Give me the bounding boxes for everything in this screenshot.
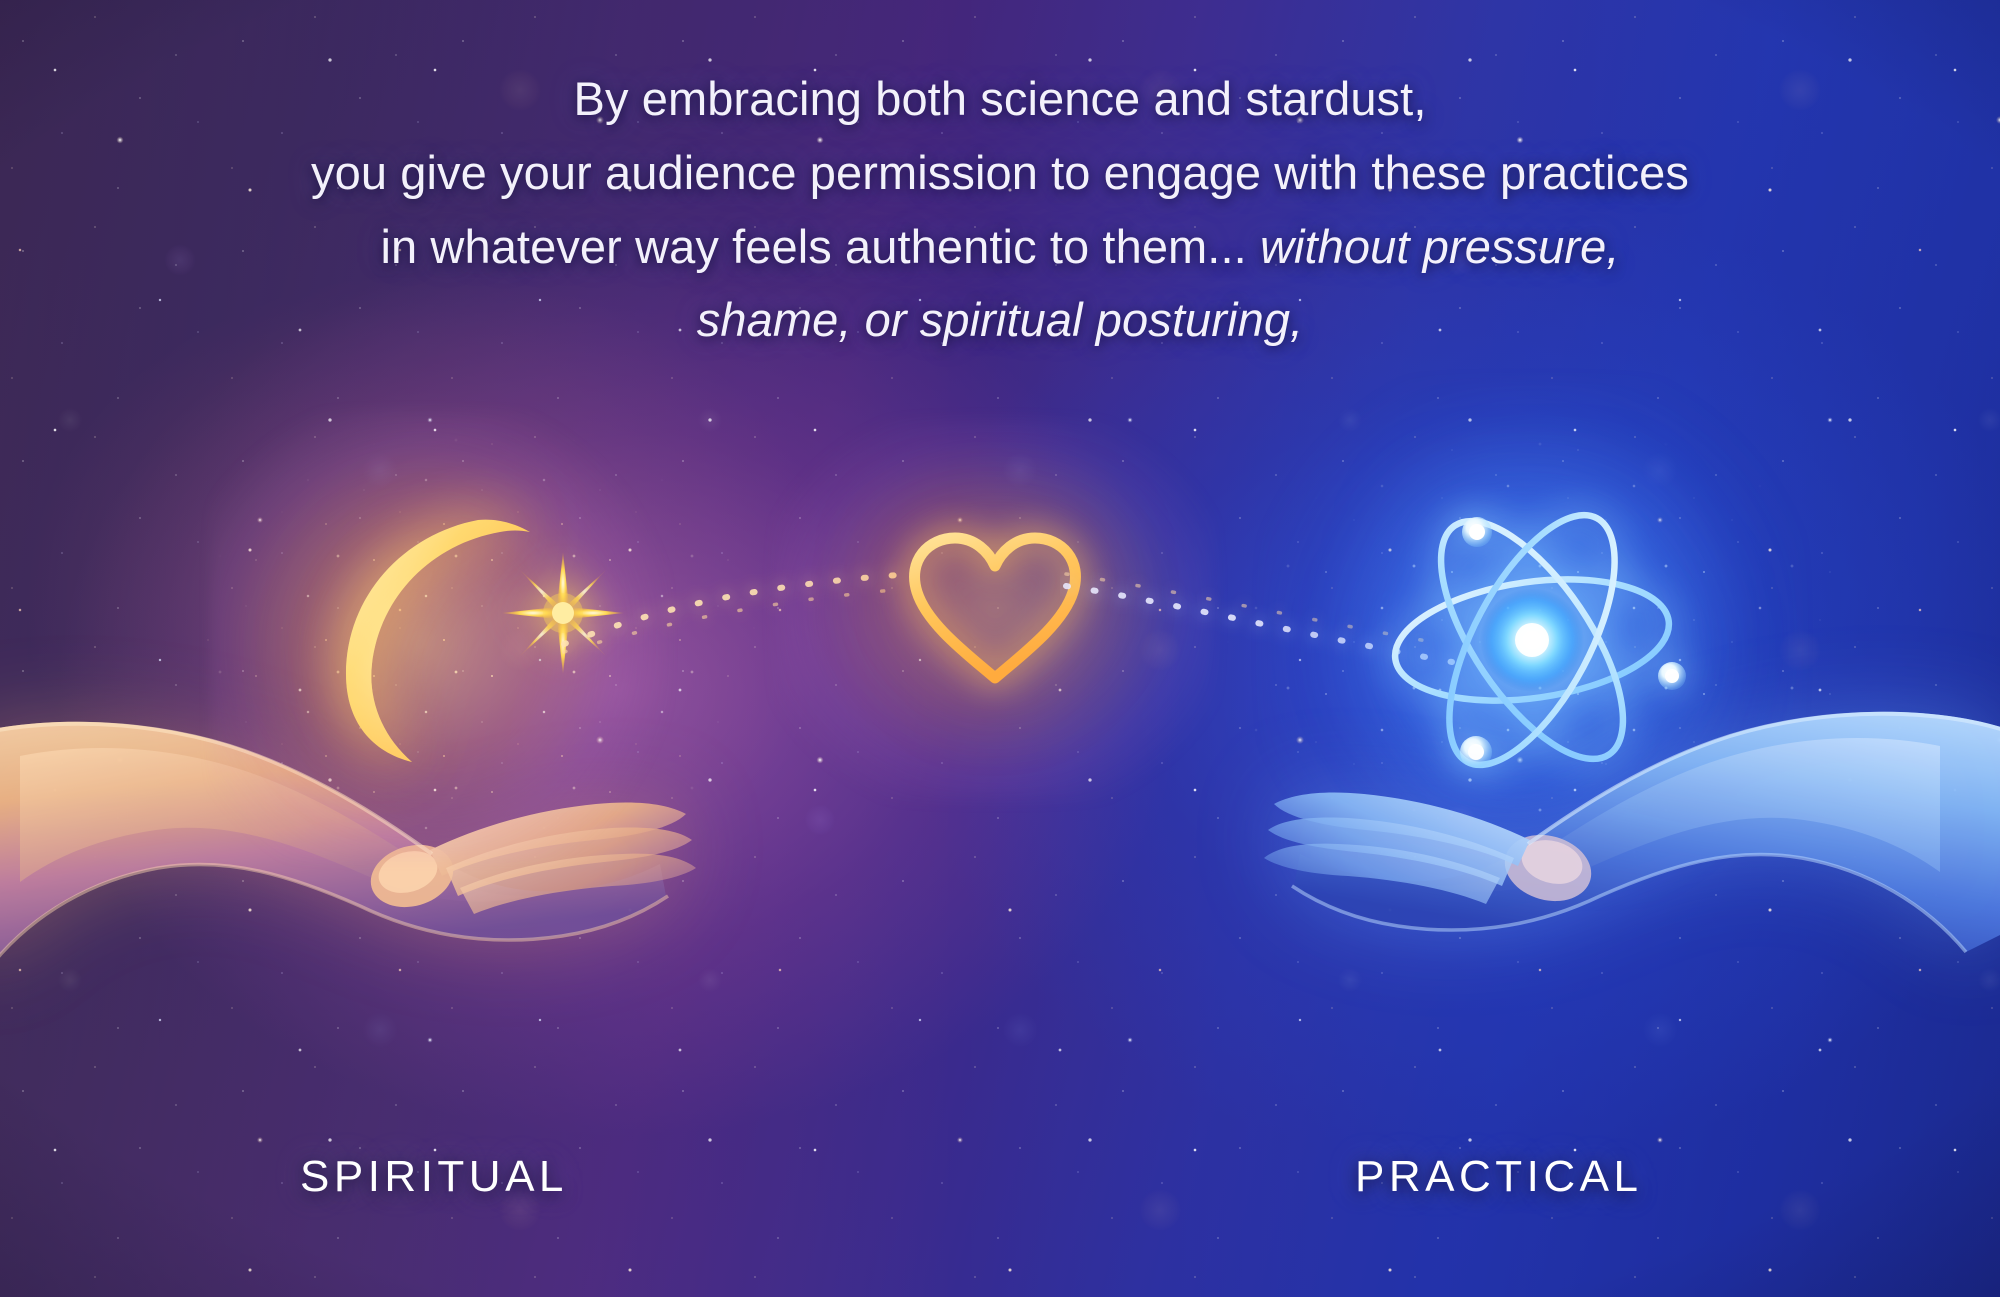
open-hand-icon-right xyxy=(1170,690,2000,1040)
quote-segment: shame, or spiritual posturing, xyxy=(697,293,1303,346)
caption-practical: PRACTICAL xyxy=(1355,1152,1642,1202)
heart-symbol-group xyxy=(905,530,1085,690)
quote-line-3: in whatever way feels authentic to them.… xyxy=(0,210,2000,284)
quote-segment: without pressure, xyxy=(1260,220,1620,273)
quote-text-block: By embracing both science and stardust, … xyxy=(0,62,2000,357)
spiritual-symbol-group xyxy=(300,500,580,770)
poster-canvas: By embracing both science and stardust, … xyxy=(0,0,2000,1297)
quote-segment: in whatever way feels authentic to them.… xyxy=(380,220,1259,273)
quote-segment: By embracing both science and stardust, xyxy=(574,72,1427,125)
quote-segment: you give your audience permission to eng… xyxy=(311,146,1689,199)
sparkle-star-icon xyxy=(498,548,628,678)
quote-line-2: you give your audience permission to eng… xyxy=(0,136,2000,210)
heart-outline-icon xyxy=(905,530,1085,690)
quote-line-1: By embracing both science and stardust, xyxy=(0,62,2000,136)
caption-spiritual: SPIRITUAL xyxy=(300,1152,568,1202)
quote-line-4: shame, or spiritual posturing, xyxy=(0,283,2000,357)
